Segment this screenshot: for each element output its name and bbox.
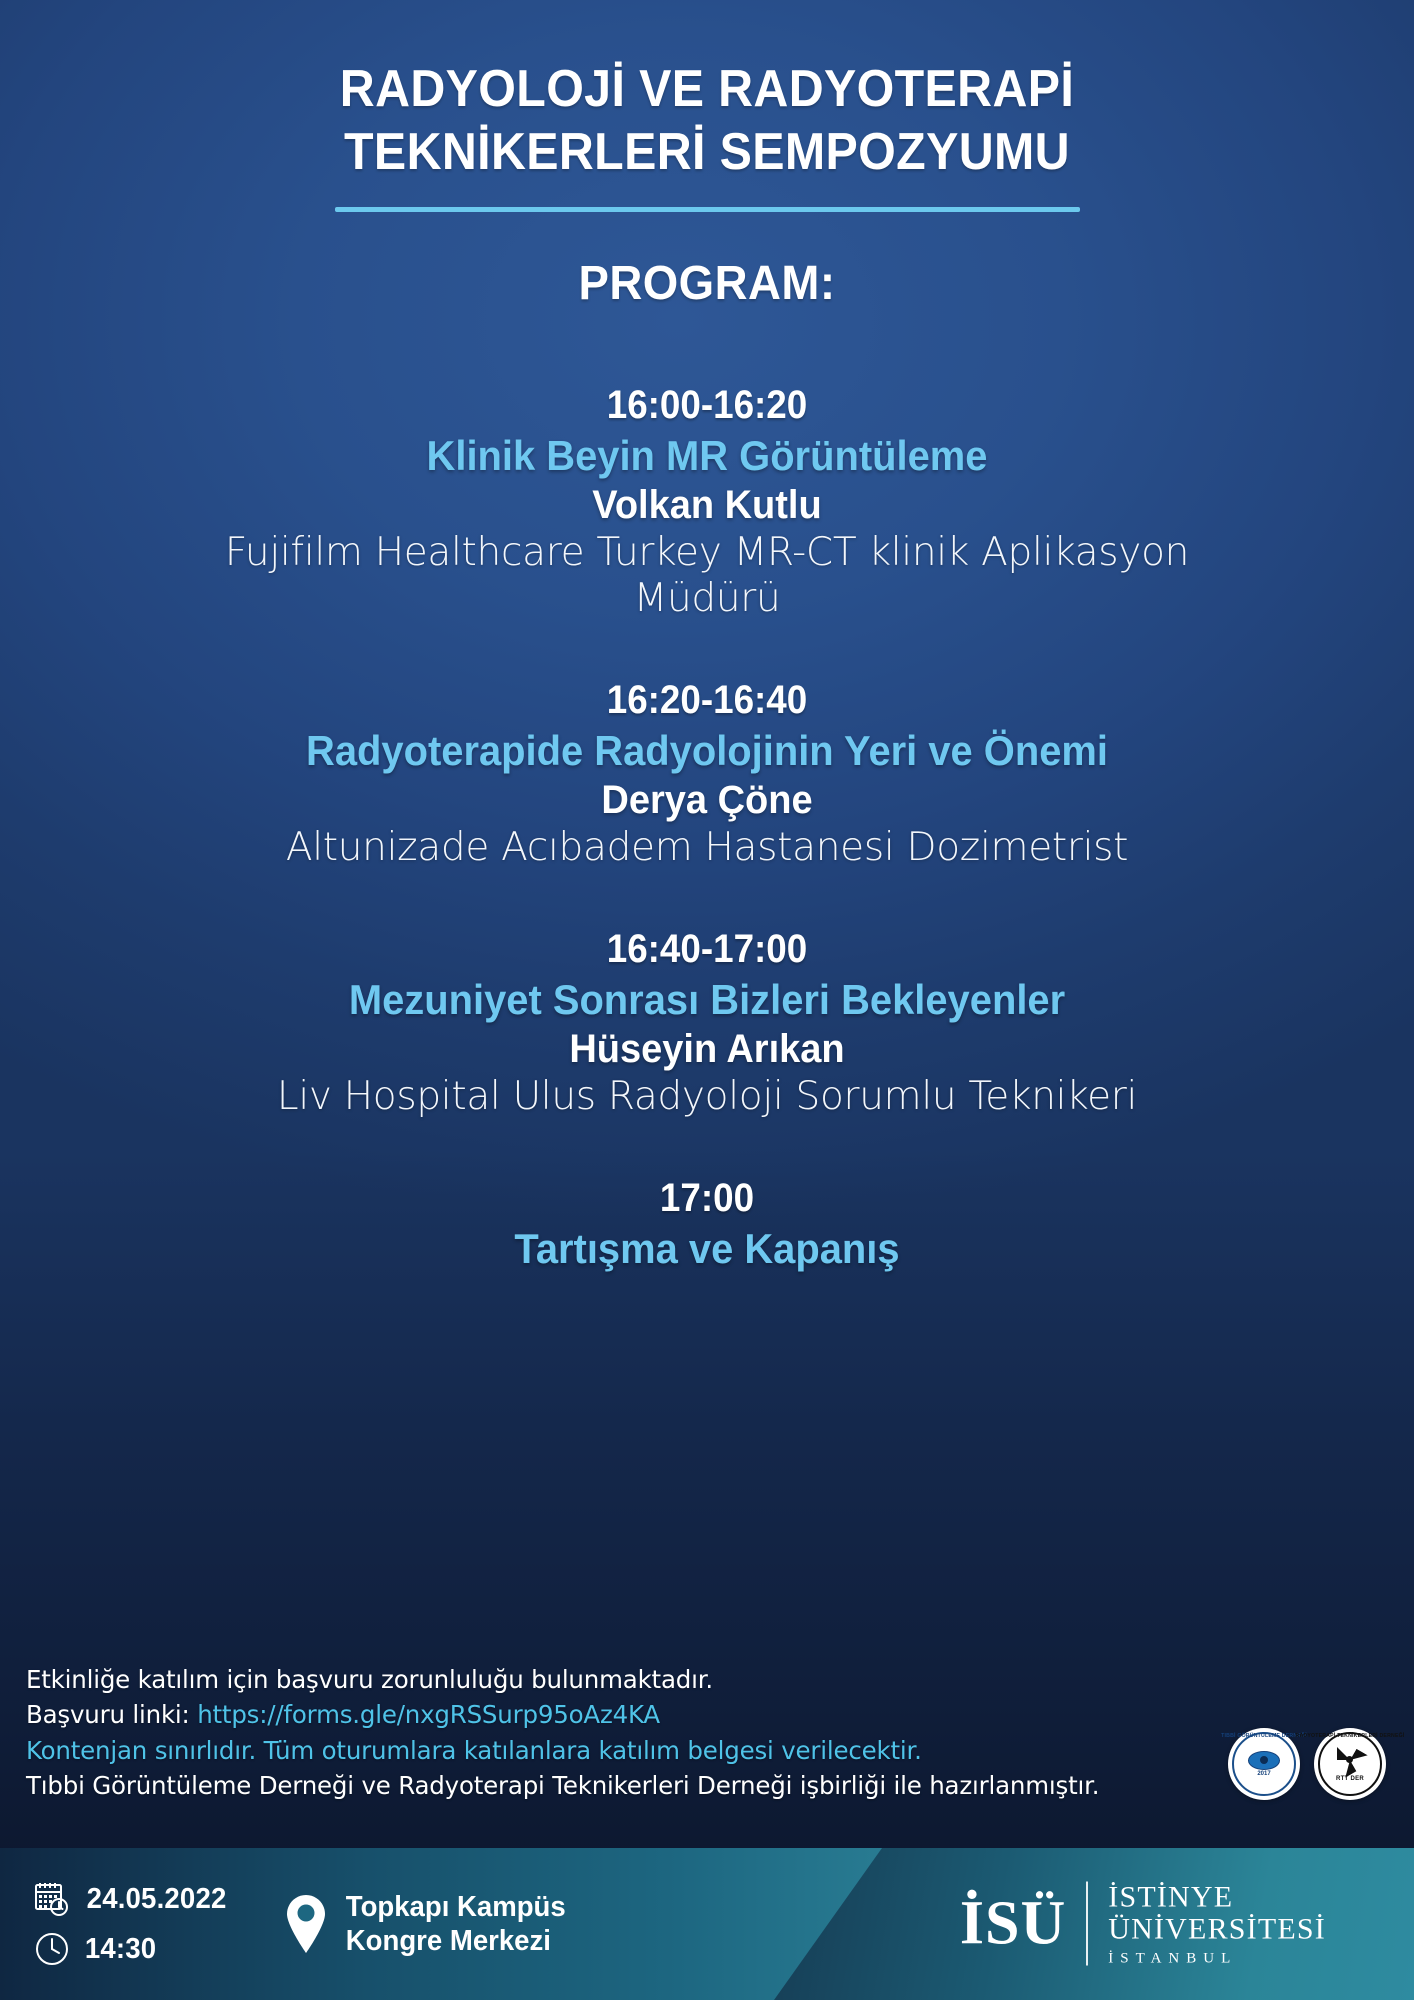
poster-content: RADYOLOJİ VE RADYOTERAPİ TEKNİKERLERİ SE… <box>0 0 1414 1273</box>
university-name: İSTİNYE ÜNİVERSİTESİ İSTANBUL <box>1108 1882 1326 1967</box>
title-divider <box>335 207 1080 212</box>
title-line-1: RADYOLOJİ VE RADYOTERAPİ <box>340 60 1074 118</box>
session-topic: Mezuniyet Sonrası Bizleri Bekleyenler <box>35 976 1378 1024</box>
session-speaker: Derya Çöne <box>35 777 1378 823</box>
event-time: 14:30 <box>85 1933 156 1966</box>
session-item-closing: 17:00 Tartışma ve Kapanış <box>0 1176 1414 1273</box>
logo-sub-text: RTT DER <box>1336 1776 1364 1782</box>
session-topic: Tartışma ve Kapanış <box>35 1225 1378 1273</box>
logo-separator <box>1086 1882 1088 1966</box>
university-mark: İSÜ <box>960 1893 1066 1955</box>
event-venue: Topkapı Kampüs Kongre Merkezi <box>286 1890 572 1958</box>
university-name-line-2: ÜNİVERSİTESİ <box>1108 1914 1326 1946</box>
university-logo: İSÜ İSTİNYE ÜNİVERSİTESİ İSTANBUL <box>960 1882 1326 1967</box>
event-datetime: 24.05.2022 14:30 <box>34 1881 230 1967</box>
program-heading: PROGRAM: <box>35 256 1378 311</box>
bottom-info-bar: 24.05.2022 14:30 <box>0 1848 1414 2000</box>
tibbi-goruntuleme-dernegi-logo: TIBBİ GÖRÜNTÜLEME DERNEĞİ 2017 <box>1228 1728 1300 1800</box>
eye-icon <box>1248 1751 1280 1770</box>
session-speaker: Hüseyin Arıkan <box>35 1026 1378 1072</box>
radiation-trefoil-icon <box>1336 1746 1364 1774</box>
radyoterapi-teknikerleri-dernegi-logo: RADYOTERAPİ TEKNİKERLERİ DERNEĞİ RTT DER <box>1314 1728 1386 1800</box>
registration-link[interactable]: https://forms.gle/nxgRSSurp95oAz4KA <box>197 1700 660 1729</box>
session-time: 16:20-16:40 <box>57 678 1358 723</box>
note-line-2: Başvuru linki: https://forms.gle/nxgRSSu… <box>26 1697 1099 1733</box>
title-line-2: TEKNİKERLERİ SEMPOZYUMU <box>133 121 1281 184</box>
venue-line-1: Topkapı Kampüs <box>346 1890 566 1924</box>
session-item: 16:40-17:00 Mezuniyet Sonrası Bizleri Be… <box>0 927 1414 1120</box>
logo-ring-text: TIBBİ GÖRÜNTÜLEME DERNEĞİ <box>1221 1733 1307 1739</box>
event-date-row: 24.05.2022 <box>34 1881 230 1917</box>
session-topic: Radyoterapide Radyolojinin Yeri ve Önemi <box>35 727 1378 775</box>
session-time: 16:00-16:20 <box>57 383 1358 428</box>
university-name-line-1: İSTİNYE <box>1108 1882 1326 1914</box>
event-date: 24.05.2022 <box>87 1883 227 1916</box>
venue-line-2: Kongre Merkezi <box>346 1924 566 1958</box>
logo-inner: RTT DER <box>1336 1746 1364 1782</box>
logo-ring-text: RADYOTERAPİ TEKNİKERLERİ DERNEĞİ <box>1295 1733 1404 1739</box>
registration-note: Etkinliğe katılım için başvuru zorunlulu… <box>26 1662 1099 1804</box>
session-item: 16:20-16:40 Radyoterapide Radyolojinin Y… <box>0 678 1414 871</box>
bottom-bar-content: 24.05.2022 14:30 <box>0 1848 1414 2000</box>
page-title: RADYOLOJİ VE RADYOTERAPİ TEKNİKERLERİ SE… <box>49 0 1364 185</box>
location-pin-icon <box>286 1893 326 1955</box>
note-line-1: Etkinliğe katılım için başvuru zorunlulu… <box>26 1662 1099 1698</box>
venue-text: Topkapı Kampüs Kongre Merkezi <box>346 1890 566 1958</box>
note-line-3: Kontenjan sınırlıdır. Tüm oturumlara kat… <box>26 1733 1099 1769</box>
logo-inner: 2017 <box>1248 1751 1280 1777</box>
session-affiliation: Fujifilm Healthcare Turkey MR-CT klinik … <box>162 530 1252 622</box>
note-link-label: Başvuru linki: <box>26 1700 197 1729</box>
event-time-row: 14:30 <box>34 1931 230 1967</box>
note-line-4: Tıbbi Görüntüleme Derneği ve Radyoterapi… <box>26 1768 1099 1804</box>
session-item: 16:00-16:20 Klinik Beyin MR Görüntüleme … <box>0 383 1414 622</box>
logo-year: 2017 <box>1248 1771 1280 1777</box>
calendar-icon <box>34 1881 70 1917</box>
university-name-line-3: İSTANBUL <box>1108 1950 1326 1966</box>
clock-icon <box>34 1931 70 1967</box>
session-affiliation: Liv Hospital Ulus Radyoloji Sorumlu Tekn… <box>162 1074 1252 1120</box>
session-time: 16:40-17:00 <box>57 927 1358 972</box>
association-logos: TIBBİ GÖRÜNTÜLEME DERNEĞİ 2017 RADYOTERA… <box>1228 1728 1386 1800</box>
session-speaker: Volkan Kutlu <box>35 482 1378 528</box>
poster: RADYOLOJİ VE RADYOTERAPİ TEKNİKERLERİ SE… <box>0 0 1414 2000</box>
session-topic: Klinik Beyin MR Görüntüleme <box>35 432 1378 480</box>
session-time: 17:00 <box>57 1176 1358 1221</box>
session-list: 16:00-16:20 Klinik Beyin MR Görüntüleme … <box>0 383 1414 1273</box>
session-affiliation: Altunizade Acıbadem Hastanesi Dozimetris… <box>162 825 1252 871</box>
